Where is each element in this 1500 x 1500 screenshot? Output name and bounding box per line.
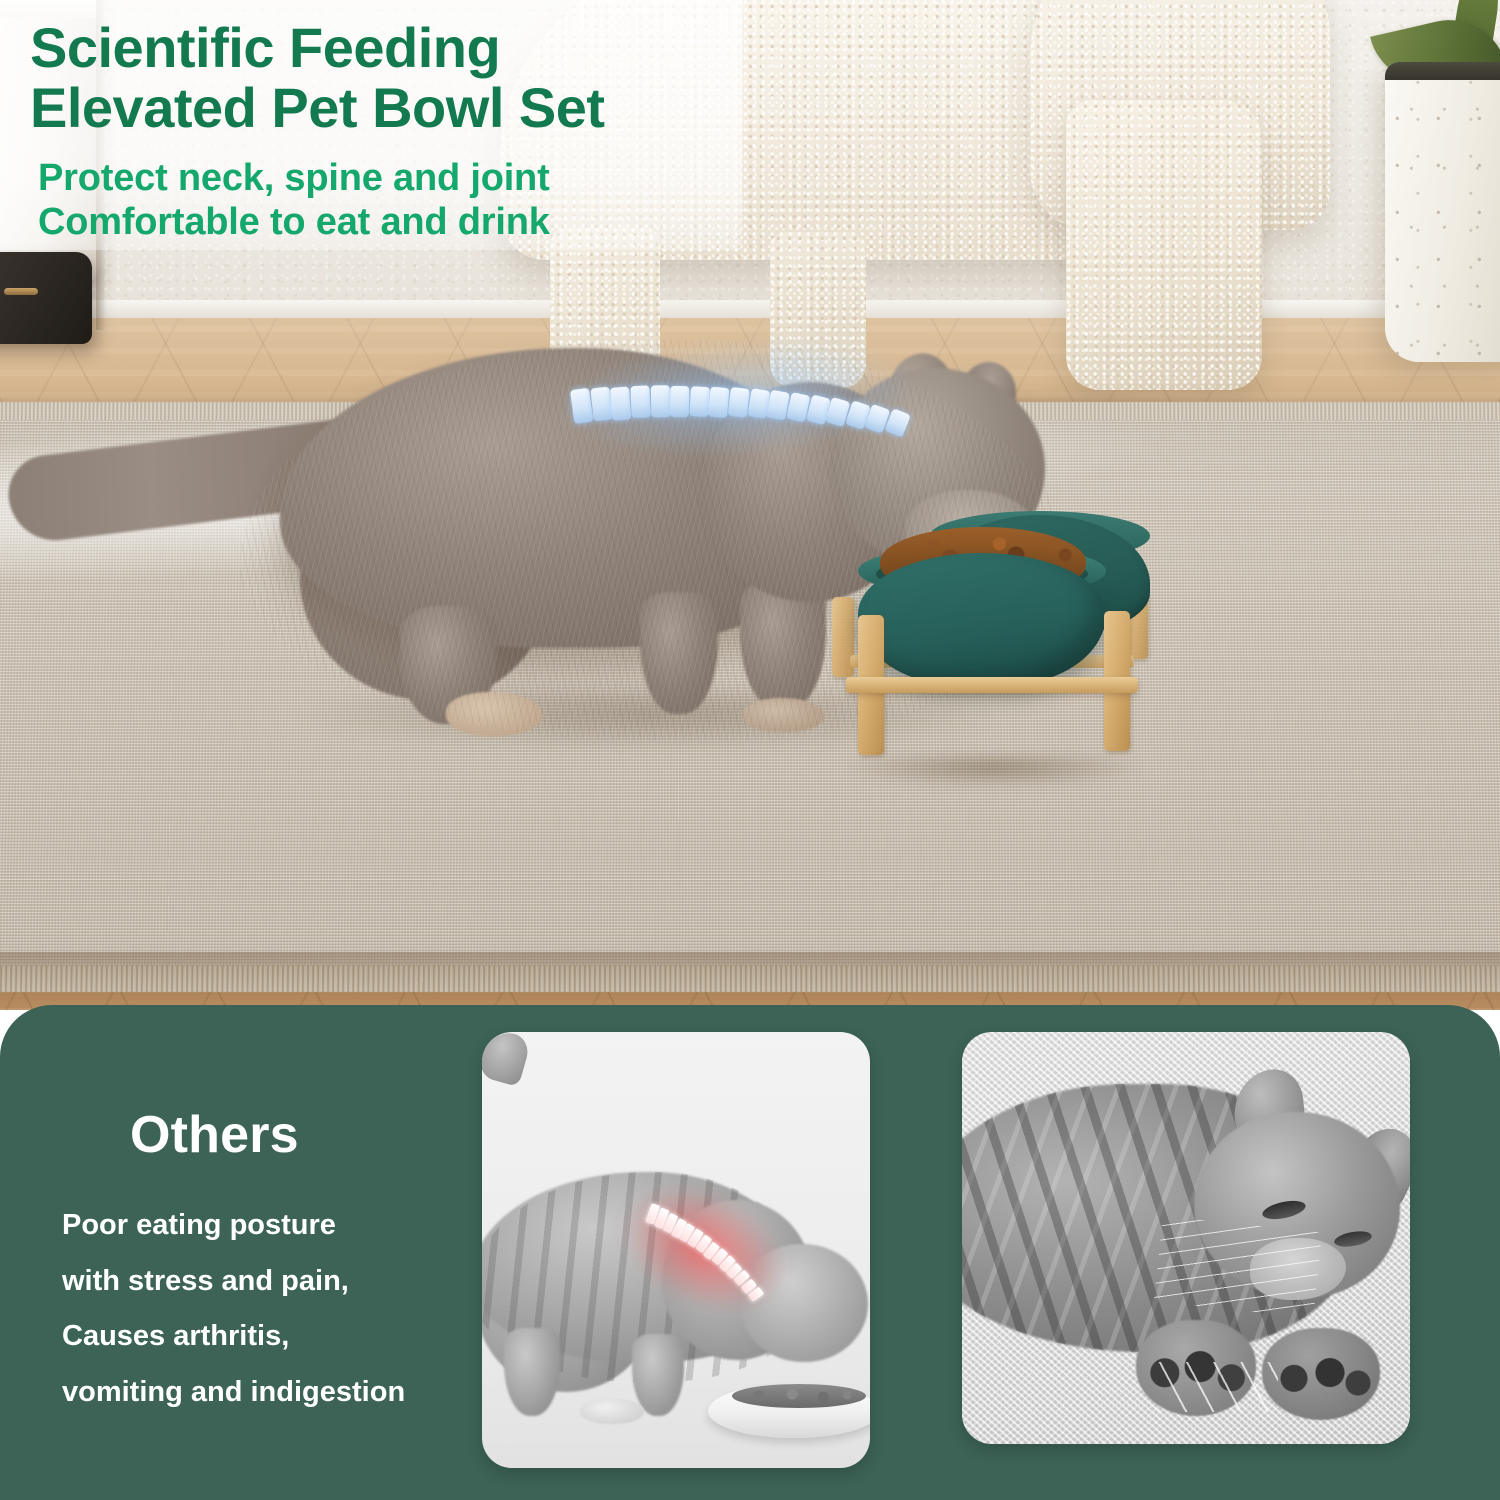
rug-floor-shadow [0,952,1500,1010]
stand-rail-front [846,677,1138,693]
cat-front-leg-far [640,592,718,714]
vertebra-segment [689,386,710,417]
page-title: Scientific Feeding Elevated Pet Bowl Set [30,18,730,138]
inset-cat-front-leg [632,1334,684,1416]
hero-lifestyle-scene: Scientific Feeding Elevated Pet Bowl Set… [0,0,1500,1010]
armchair-arm [1066,100,1262,390]
product-marketing-image: Scientific Feeding Elevated Pet Bowl Set… [0,0,1500,1500]
vertebra-segment [650,386,669,418]
cabinet-handle-icon [4,288,38,295]
healthy-spine-highlight [563,340,911,456]
vertebra-segment [590,387,612,422]
comparison-body-line: vomiting and indigestion [62,1365,482,1421]
subline-line-1: Protect neck, spine and joint [38,156,738,200]
resting-cat-toes-right [1272,1354,1372,1412]
planter-soil-rim [1385,62,1500,80]
vertebra-segment [728,387,750,418]
comparison-body-line: Poor eating posture [62,1198,482,1254]
headline-line-1: Scientific Feeding [30,18,730,78]
resting-cat-whiskers [1154,1216,1322,1318]
page-subtitle: Protect neck, spine and joint Comfortabl… [38,156,738,244]
inset-bad-posture-photo [482,1032,870,1468]
inset-cat-ear-icon [482,1032,532,1087]
headline-line-2: Elevated Pet Bowl Set [30,78,730,138]
resting-cat-claws [1158,1362,1278,1412]
comparison-heading: Others [130,1105,299,1165]
cat-front-paw [742,698,824,732]
flat-dish-food [732,1384,866,1408]
comparison-body-line: with stress and pain, [62,1254,482,1310]
inset-cat-back-leg [504,1328,560,1416]
cat-back-paw [446,692,542,736]
vertebra-segment [610,386,631,420]
inset-cat-paw [580,1398,644,1424]
comparison-body-text: Poor eating posture with stress and pain… [62,1198,482,1421]
vertebra-segment [670,386,690,417]
vertebra-segment [630,386,650,419]
bowl-front [858,553,1106,685]
comparison-body-line: Causes arthritis, [62,1309,482,1365]
subline-line-2: Comfortable to eat and drink [38,200,738,244]
inset-resting-cat-photo [962,1032,1410,1444]
vertebra-segment [708,386,730,417]
ceramic-planter [1385,62,1500,362]
elevated-bowl-product [826,505,1166,805]
stand-shadow [844,755,1144,787]
